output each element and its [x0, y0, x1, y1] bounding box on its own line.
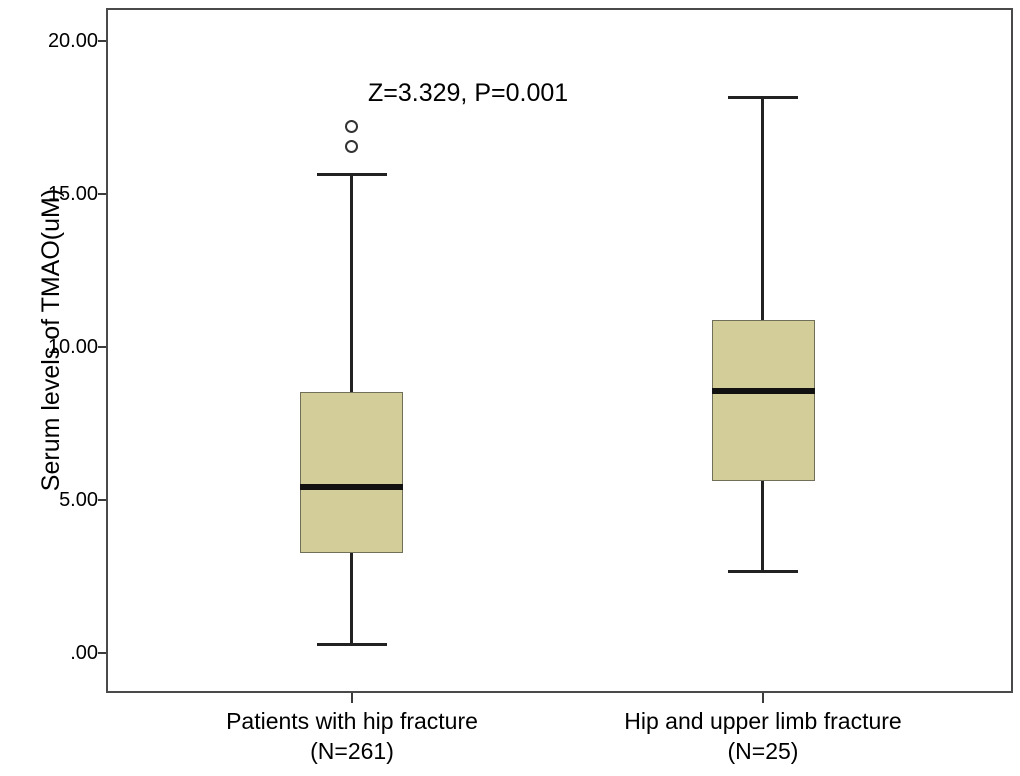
x-tick-label-1-line2: (N=261) [142, 736, 562, 766]
x-tick-mark-1 [351, 693, 353, 703]
box-plot-figure: Serum levels of TMAO(uM) 20.00 15.00 10.… [0, 0, 1020, 776]
upper-whisker-cap [317, 173, 387, 176]
lower-whisker-line [761, 481, 764, 570]
upper-whisker-line [350, 173, 353, 392]
y-tick-label-15: 15.00 [14, 184, 98, 204]
x-tick-label-1-line1: Patients with hip fracture [226, 708, 478, 734]
upper-whisker-line [761, 96, 764, 320]
y-tick-label-20: 20.00 [14, 31, 98, 51]
statistic-annotation: Z=3.329, P=0.001 [368, 78, 568, 108]
y-tick-label-0: .00 [14, 643, 98, 663]
upper-whisker-cap [728, 96, 798, 99]
box-body[interactable] [712, 320, 815, 481]
x-tick-label-2-line2: (N=25) [553, 736, 973, 766]
lower-whisker-cap [317, 643, 387, 646]
lower-whisker-cap [728, 570, 798, 573]
box-body[interactable] [300, 392, 403, 553]
y-tick-label-5: 5.00 [14, 490, 98, 510]
x-tick-mark-2 [762, 693, 764, 703]
x-tick-label-group-1: Patients with hip fracture (N=261) [142, 706, 562, 766]
median-line [300, 484, 403, 490]
plot-area [106, 8, 1013, 693]
outlier-point [345, 120, 358, 133]
median-line [712, 388, 815, 394]
x-tick-label-2-line1: Hip and upper limb fracture [624, 708, 901, 734]
lower-whisker-line [350, 553, 353, 643]
y-tick-label-10: 10.00 [14, 337, 98, 357]
y-axis-tick-labels: 20.00 15.00 10.00 5.00 .00 [0, 0, 98, 776]
outlier-point [345, 140, 358, 153]
x-tick-label-group-2: Hip and upper limb fracture (N=25) [553, 706, 973, 766]
